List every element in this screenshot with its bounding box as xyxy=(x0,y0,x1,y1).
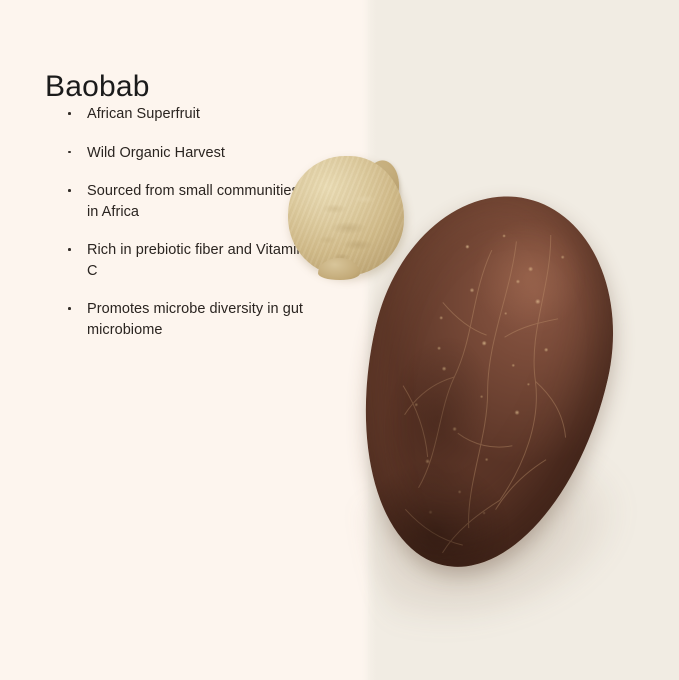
product-infographic: Baobab African Superfruit Wild Organic H… xyxy=(0,0,679,680)
list-item-label: Sourced from small communities in Africa xyxy=(87,183,299,220)
fruit-body xyxy=(327,172,643,592)
list-item-label: Rich in prebiotic fiber and Vitamin C xyxy=(87,242,304,279)
list-item-label: Promotes microbe diversity in gut microb… xyxy=(87,301,303,338)
list-item-label: African Superfruit xyxy=(87,106,200,122)
bullet-dot-icon xyxy=(68,307,71,310)
fruit-shading xyxy=(327,172,643,592)
list-item: Rich in prebiotic fiber and Vitamin C xyxy=(62,240,312,281)
bullet-dot-icon xyxy=(68,248,71,251)
bullet-dot-icon xyxy=(68,151,71,154)
benefits-list: African Superfruit Wild Organic Harvest … xyxy=(62,104,312,341)
baobab-fruit-pod xyxy=(348,186,624,582)
page-title: Baobab xyxy=(45,70,150,105)
list-item: African Superfruit xyxy=(62,104,312,125)
list-item: Sourced from small communities in Africa xyxy=(62,181,312,222)
list-item-label: Wild Organic Harvest xyxy=(87,145,225,161)
bullet-dot-icon xyxy=(68,189,71,192)
bullet-dot-icon xyxy=(68,112,71,115)
list-item: Wild Organic Harvest xyxy=(62,143,312,164)
list-item: Promotes microbe diversity in gut microb… xyxy=(62,299,312,340)
